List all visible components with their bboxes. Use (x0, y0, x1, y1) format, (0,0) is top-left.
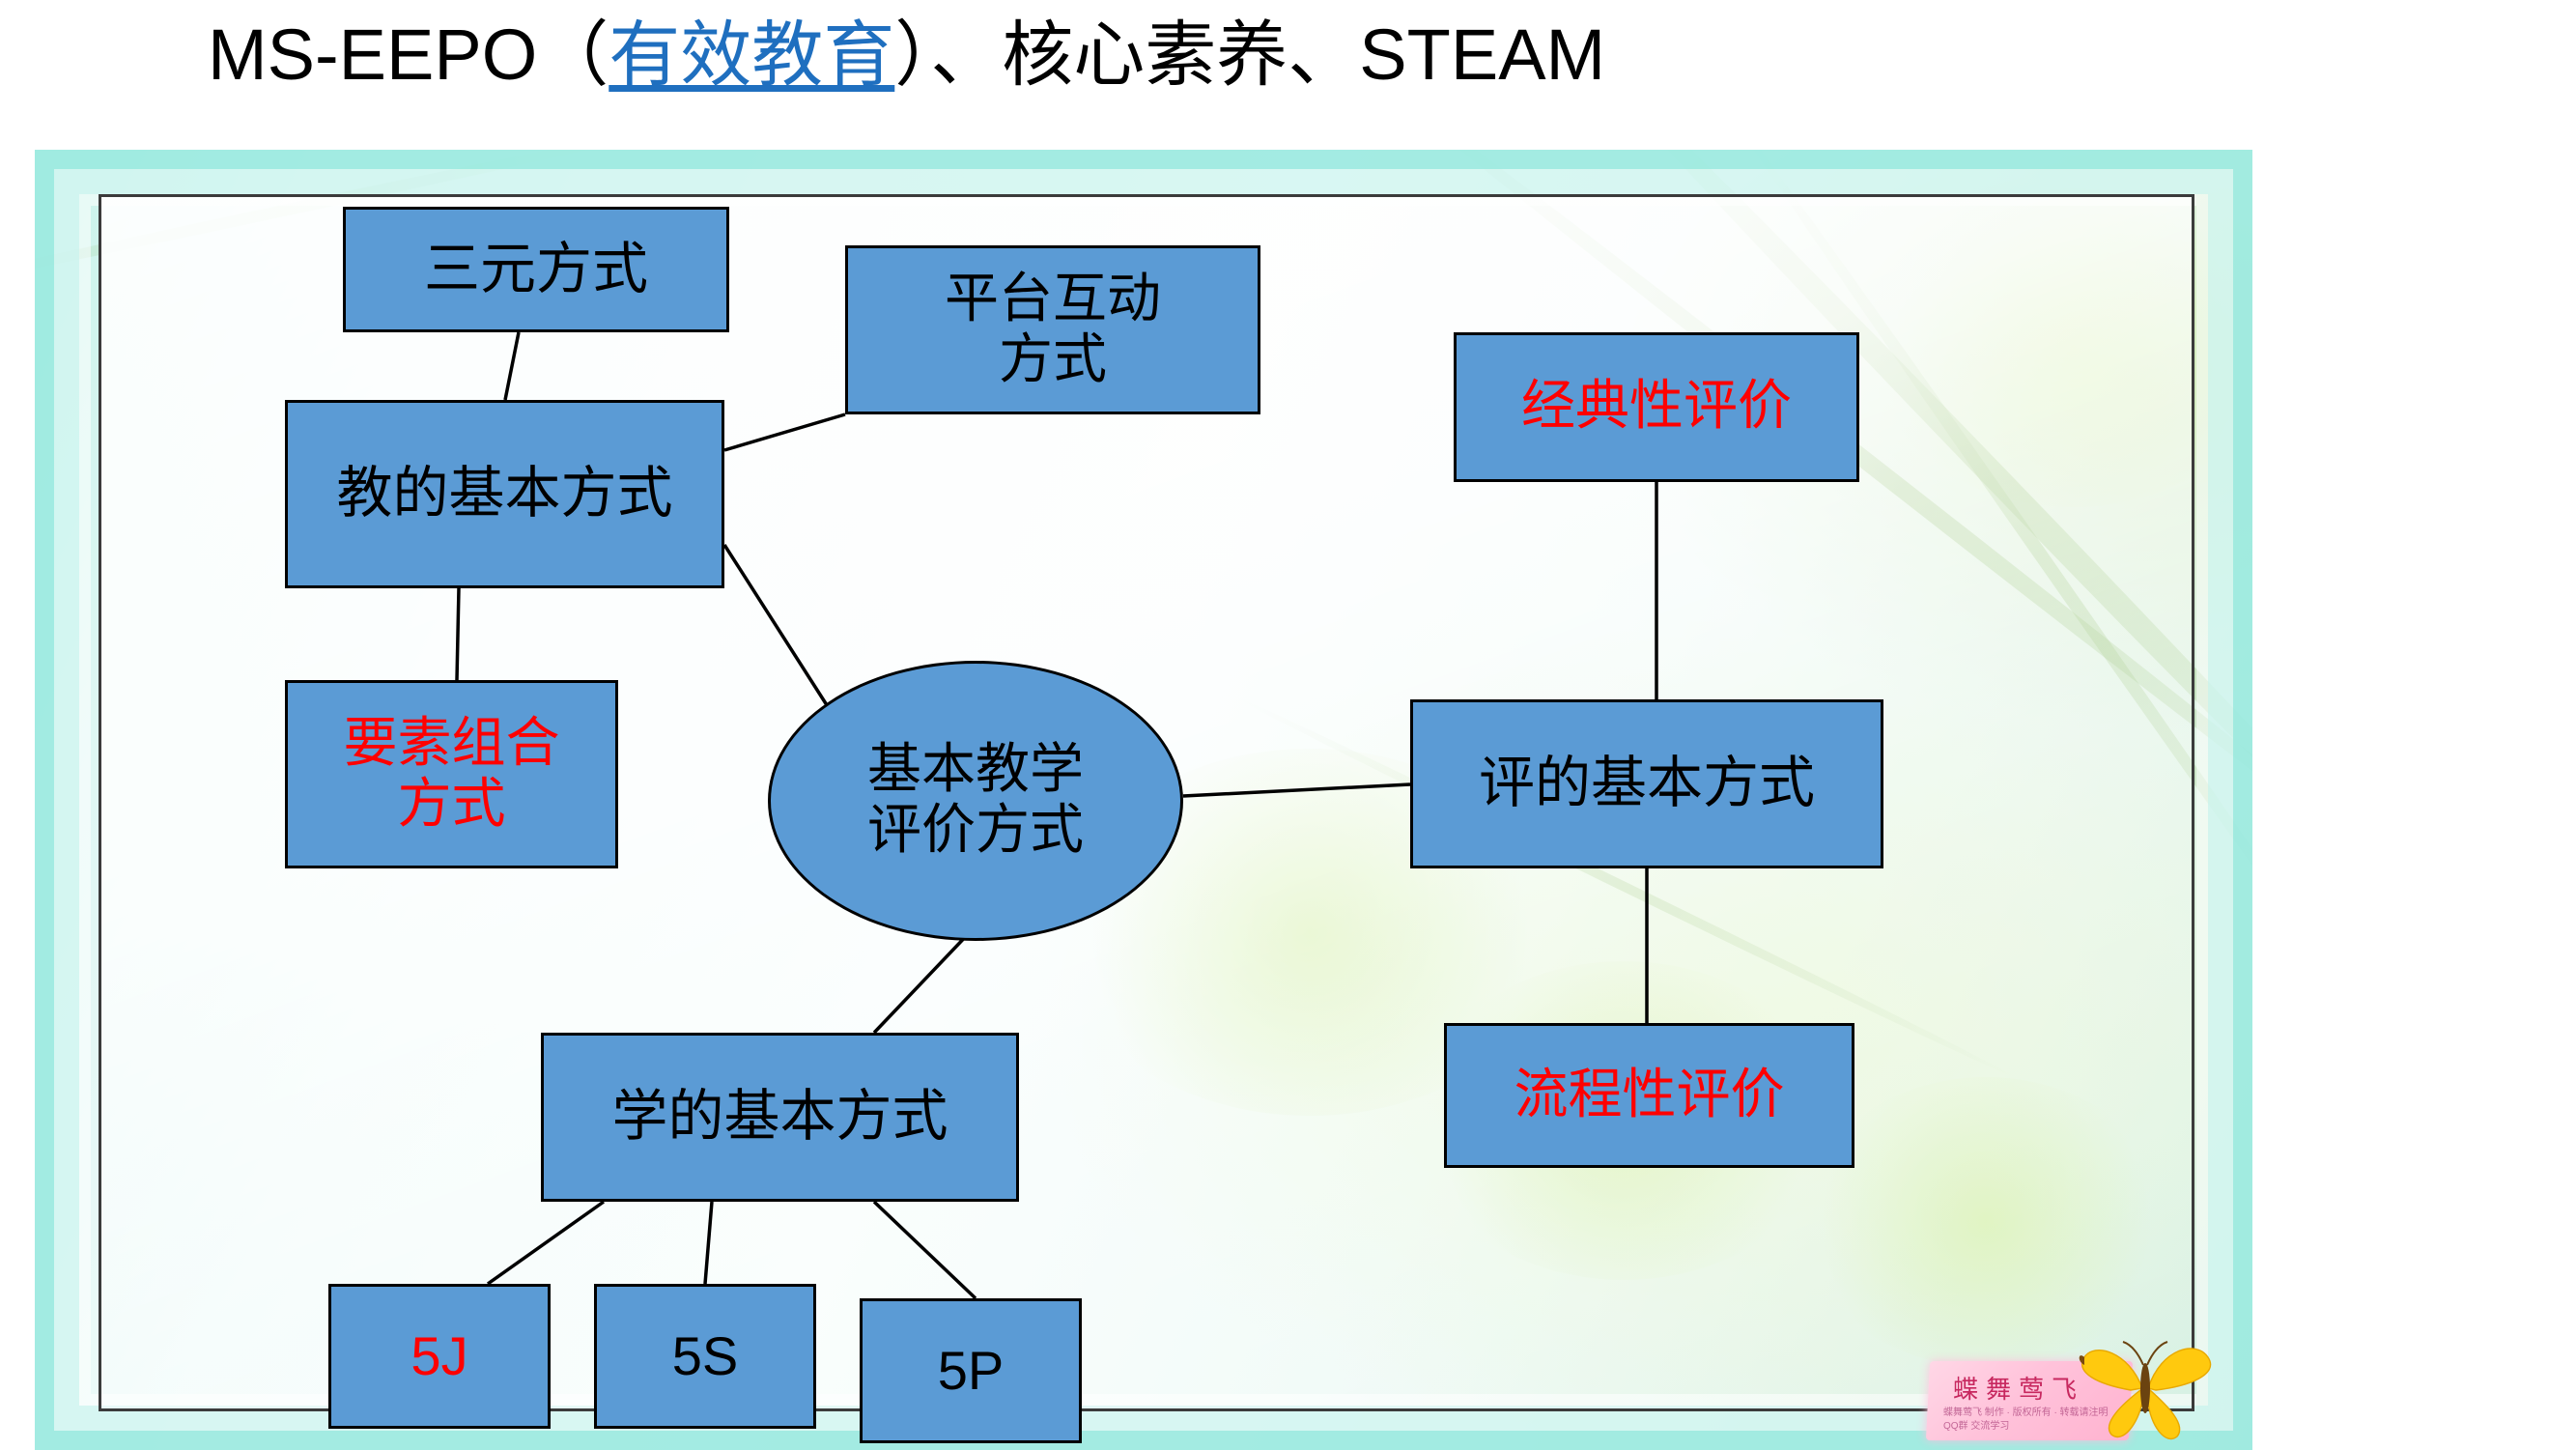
node-label: 平台互动 方式 (945, 270, 1161, 390)
node-label: 5J (410, 1326, 467, 1387)
node-5p[interactable]: 5P (860, 1298, 1082, 1443)
node-ping-de-jiben-fangshi[interactable]: 评的基本方式 (1410, 699, 1883, 868)
node-pingtai-hudong-fangshi[interactable]: 平台互动 方式 (845, 245, 1260, 414)
title-part-plain-1: MS-EEPO（ (208, 14, 609, 95)
node-5s[interactable]: 5S (594, 1284, 816, 1429)
node-label: 5P (938, 1341, 1005, 1402)
node-liuchengxing-pingjia[interactable]: 流程性评价 (1444, 1023, 1854, 1168)
node-label: 教的基本方式 (336, 463, 672, 526)
title-part-plain-2: ）、核心素养、STEAM (894, 14, 1605, 95)
node-label: 学的基本方式 (611, 1086, 948, 1149)
node-jiao-de-jiben-fangshi[interactable]: 教的基本方式 (285, 400, 724, 588)
concept-map: 三元方式 平台互动 方式 经典性评价 教的基本方式 要素组合 方式 基本教学 评… (101, 197, 2192, 1408)
butterfly-icon (2073, 1334, 2218, 1442)
node-sanyuan-fangshi[interactable]: 三元方式 (343, 207, 729, 332)
slide-title-bar: MS-EEPO（有效教育）、核心素养、STEAM (0, 0, 2576, 145)
node-label: 基本教学 评价方式 (867, 740, 1084, 861)
node-label: 5S (672, 1326, 739, 1387)
node-label: 流程性评价 (1514, 1066, 1785, 1126)
node-yaosu-zuhe-fangshi[interactable]: 要素组合 方式 (285, 680, 618, 868)
diagram-canvas: 三元方式 平台互动 方式 经典性评价 教的基本方式 要素组合 方式 基本教学 评… (99, 194, 2194, 1411)
node-5j[interactable]: 5J (328, 1284, 551, 1429)
node-label: 经典性评价 (1521, 377, 1792, 438)
node-xue-de-jiben-fangshi[interactable]: 学的基本方式 (541, 1033, 1019, 1202)
title-hyperlink[interactable]: 有效教育 (609, 14, 894, 95)
node-label: 评的基本方式 (1479, 753, 1815, 815)
node-jiben-jiaoxue-pingjia-fangshi[interactable]: 基本教学 评价方式 (768, 661, 1183, 941)
node-label: 三元方式 (424, 239, 648, 301)
slide-body: 三元方式 平台互动 方式 经典性评价 教的基本方式 要素组合 方式 基本教学 评… (35, 150, 2252, 1450)
watermark-logo: 蝶舞莺飞 蝶舞莺飞 制作 · 版权所有 · 转载请注明 QQ群 交流学习 (1928, 1328, 2218, 1444)
node-label: 要素组合 方式 (344, 714, 560, 835)
page-title: MS-EEPO（有效教育）、核心素养、STEAM (208, 14, 1605, 96)
node-jingdianxing-pingjia[interactable]: 经典性评价 (1454, 332, 1859, 482)
